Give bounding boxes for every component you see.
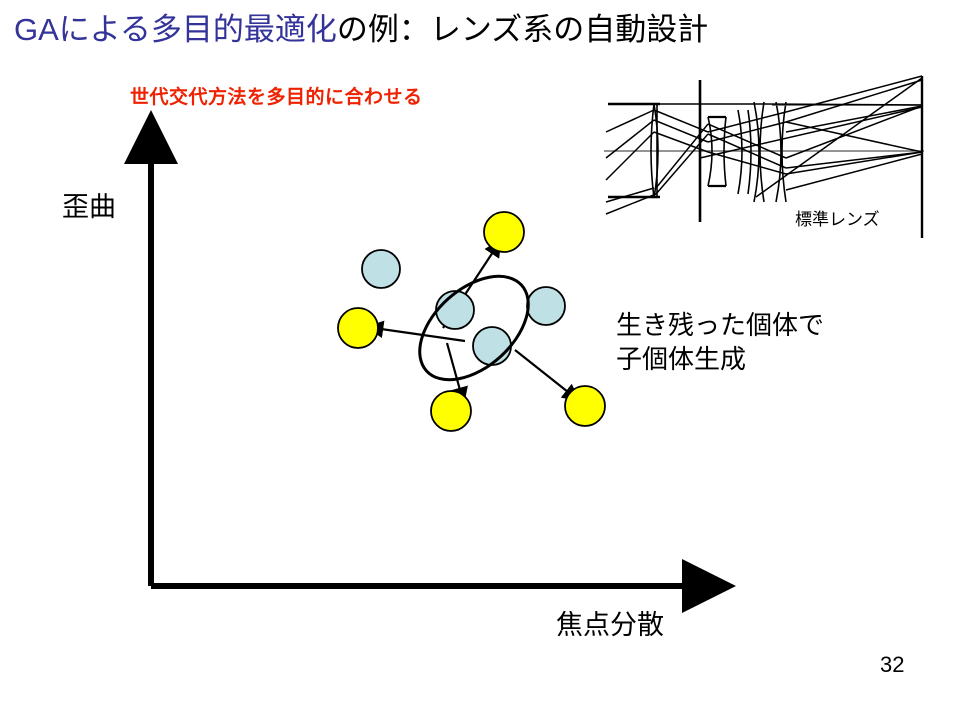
arrow-to-bottom — [447, 343, 460, 390]
slide-canvas: GAによる多目的最適化の例：レンズ系の自動設計 世代交代方法を多目的に合わせる … — [0, 0, 960, 720]
parent-individuals — [362, 250, 565, 365]
offspring-circle — [565, 386, 605, 426]
lens-figure-label: 標準レンズ — [795, 205, 880, 230]
title-part-blue: GAによる多目的最適化 — [14, 12, 337, 47]
lens-ray-diagram — [604, 62, 934, 242]
parent-circle — [362, 250, 400, 288]
page-title: GAによる多目的最適化の例：レンズ系の自動設計 — [14, 8, 944, 56]
selection-ellipse — [400, 256, 547, 400]
arrow-to-top — [443, 252, 493, 328]
survivor-annotation: 生き残った個体で 子個体生成 — [616, 308, 824, 376]
offspring-circle — [338, 308, 378, 348]
sub-caption: 世代交代方法を多目的に合わせる — [130, 82, 423, 109]
title-part-black: の例：レンズ系の自動設計 — [337, 12, 708, 47]
offspring-circle — [431, 391, 471, 431]
x-axis-label: 焦点分散 — [556, 603, 664, 642]
parent-circle — [527, 287, 565, 325]
offspring-individuals — [338, 212, 605, 431]
survivor-annotation-line1: 生き残った個体で — [616, 308, 824, 342]
parent-circle-selected — [436, 291, 474, 329]
parent-circle-selected — [473, 327, 511, 365]
arrow-to-left — [381, 329, 465, 341]
arrow-to-right — [515, 350, 568, 392]
offspring-circle — [484, 212, 524, 252]
y-axis-label: 歪曲 — [62, 185, 116, 224]
page-number: 32 — [880, 652, 904, 678]
survivor-annotation-line2: 子個体生成 — [616, 342, 824, 376]
offspring-arrows — [381, 252, 568, 392]
